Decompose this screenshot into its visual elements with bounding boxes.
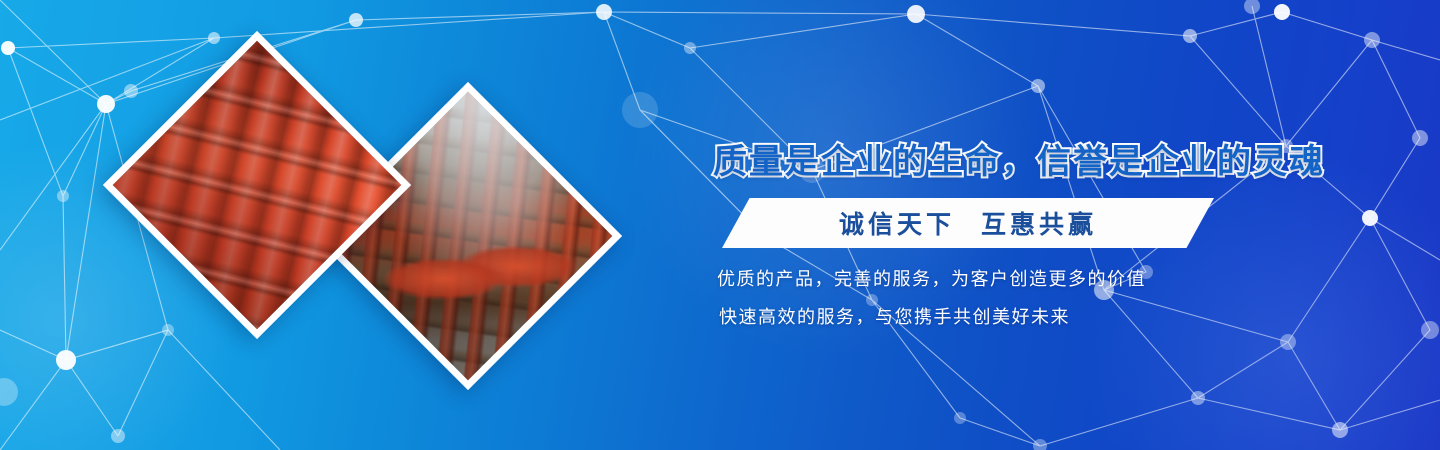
- slogan-right: 互惠共赢: [981, 205, 1097, 241]
- subtitle-line-1: 优质的产品，完善的服务，为客户创造更多的价值: [717, 260, 1146, 298]
- product-image-diamond-left: [103, 31, 411, 339]
- slogan-ribbon: 诚信天下 互惠共赢: [722, 198, 1214, 248]
- promotional-banner: 质量是企业的生命，信誉是企业的灵魂 诚信天下 互惠共赢 优质的产品，完善的服务，…: [0, 0, 1440, 450]
- subtitle-line-2: 快速高效的服务，与您携手共创美好未来: [717, 298, 1146, 336]
- banner-subtitle: 优质的产品，完善的服务，为客户创造更多的价值 快速高效的服务，与您携手共创美好未…: [717, 260, 1146, 336]
- product-photo-warehouse-pallets: [315, 83, 621, 389]
- slogan-left: 诚信天下: [839, 205, 955, 241]
- banner-headline: 质量是企业的生命，信誉是企业的灵魂: [713, 134, 1325, 183]
- product-photo-universal-joints: [104, 32, 410, 338]
- slogan-ribbon-text: 诚信天下 互惠共赢: [722, 198, 1214, 248]
